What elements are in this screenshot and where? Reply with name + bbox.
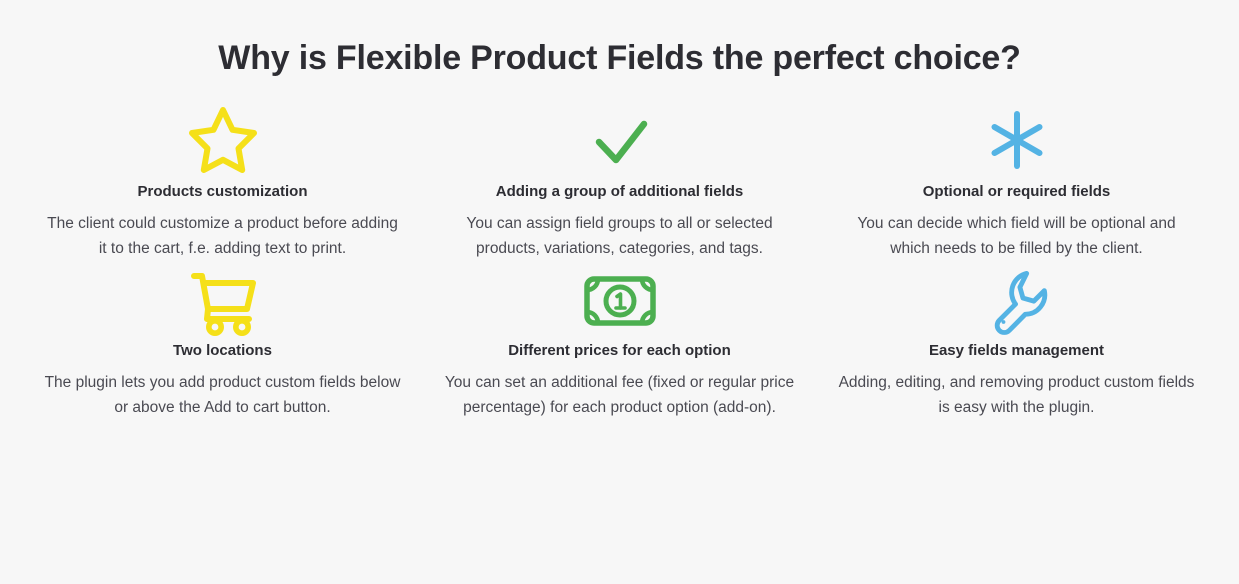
features-section: Why is Flexible Product Fields the perfe…: [0, 0, 1239, 584]
banknote-icon: [439, 261, 800, 339]
asterisk-icon: [836, 102, 1197, 178]
feature-description: You can set an additional fee (fixed or …: [440, 370, 800, 420]
feature-title: Different prices for each option: [508, 341, 731, 370]
feature-description: The plugin lets you add product custom f…: [43, 370, 403, 420]
feature-card-easy-fields-management: Easy fields management Adding, editing, …: [818, 261, 1215, 420]
features-grid: Products customization The client could …: [0, 102, 1239, 420]
feature-card-products-customization: Products customization The client could …: [24, 102, 421, 261]
feature-card-adding-group-of-fields: Adding a group of additional fields You …: [421, 102, 818, 261]
feature-title: Optional or required fields: [923, 182, 1111, 211]
feature-card-different-prices: Different prices for each option You can…: [421, 261, 818, 420]
feature-description: The client could customize a product bef…: [43, 211, 403, 261]
feature-title: Adding a group of additional fields: [496, 182, 744, 211]
feature-title: Two locations: [173, 341, 272, 370]
feature-title: Products customization: [137, 182, 307, 211]
star-icon: [42, 102, 403, 178]
feature-card-two-locations: Two locations The plugin lets you add pr…: [24, 261, 421, 420]
shopping-cart-icon: [42, 261, 403, 339]
feature-description: Adding, editing, and removing product cu…: [837, 370, 1197, 420]
check-icon: [439, 102, 800, 178]
wrench-icon: [836, 261, 1197, 339]
feature-description: You can decide which field will be optio…: [837, 211, 1197, 261]
feature-title: Easy fields management: [929, 341, 1104, 370]
feature-description: You can assign field groups to all or se…: [440, 211, 800, 261]
feature-card-optional-or-required: Optional or required fields You can deci…: [818, 102, 1215, 261]
page-title: Why is Flexible Product Fields the perfe…: [0, 0, 1239, 80]
